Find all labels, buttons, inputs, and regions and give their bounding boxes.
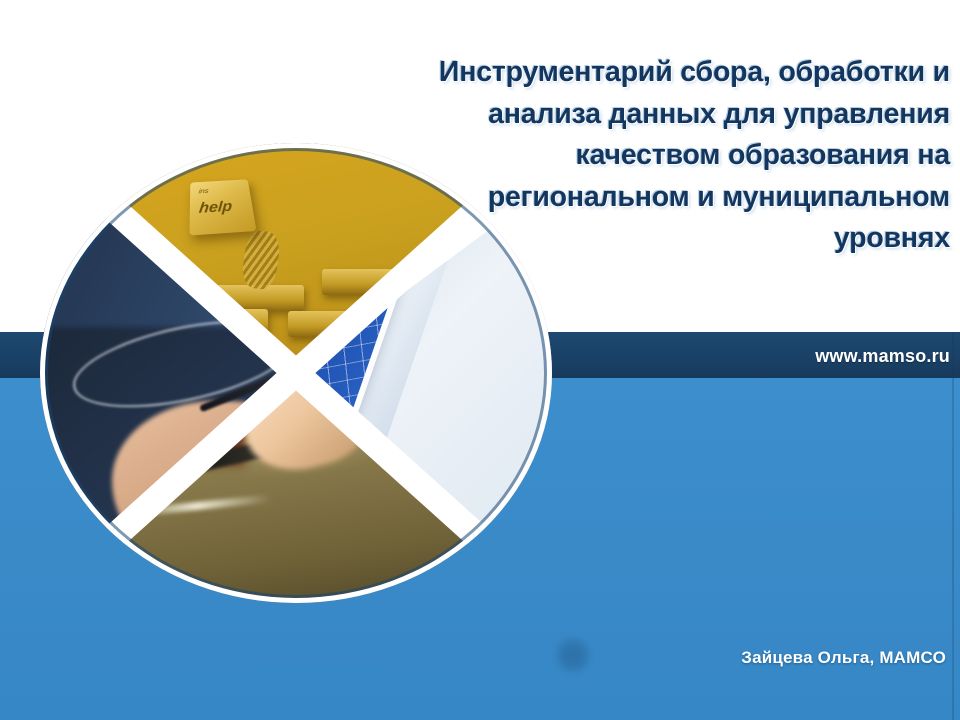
author-credit: Зайцева Ольга, МАМСО	[741, 648, 946, 668]
help-key: ins help	[189, 179, 256, 235]
keyboard-cord	[240, 229, 282, 291]
help-key-small-label: ins	[198, 187, 209, 195]
help-key-label: help	[198, 199, 233, 218]
presentation-slide: ins help	[0, 0, 960, 720]
right-edge-divider	[952, 332, 954, 720]
mamso-logo-watermark	[550, 632, 596, 678]
circular-image-collage: ins help	[40, 143, 552, 603]
collage-circle: ins help	[40, 143, 552, 603]
website-url[interactable]: www.mamso.ru	[815, 346, 950, 367]
